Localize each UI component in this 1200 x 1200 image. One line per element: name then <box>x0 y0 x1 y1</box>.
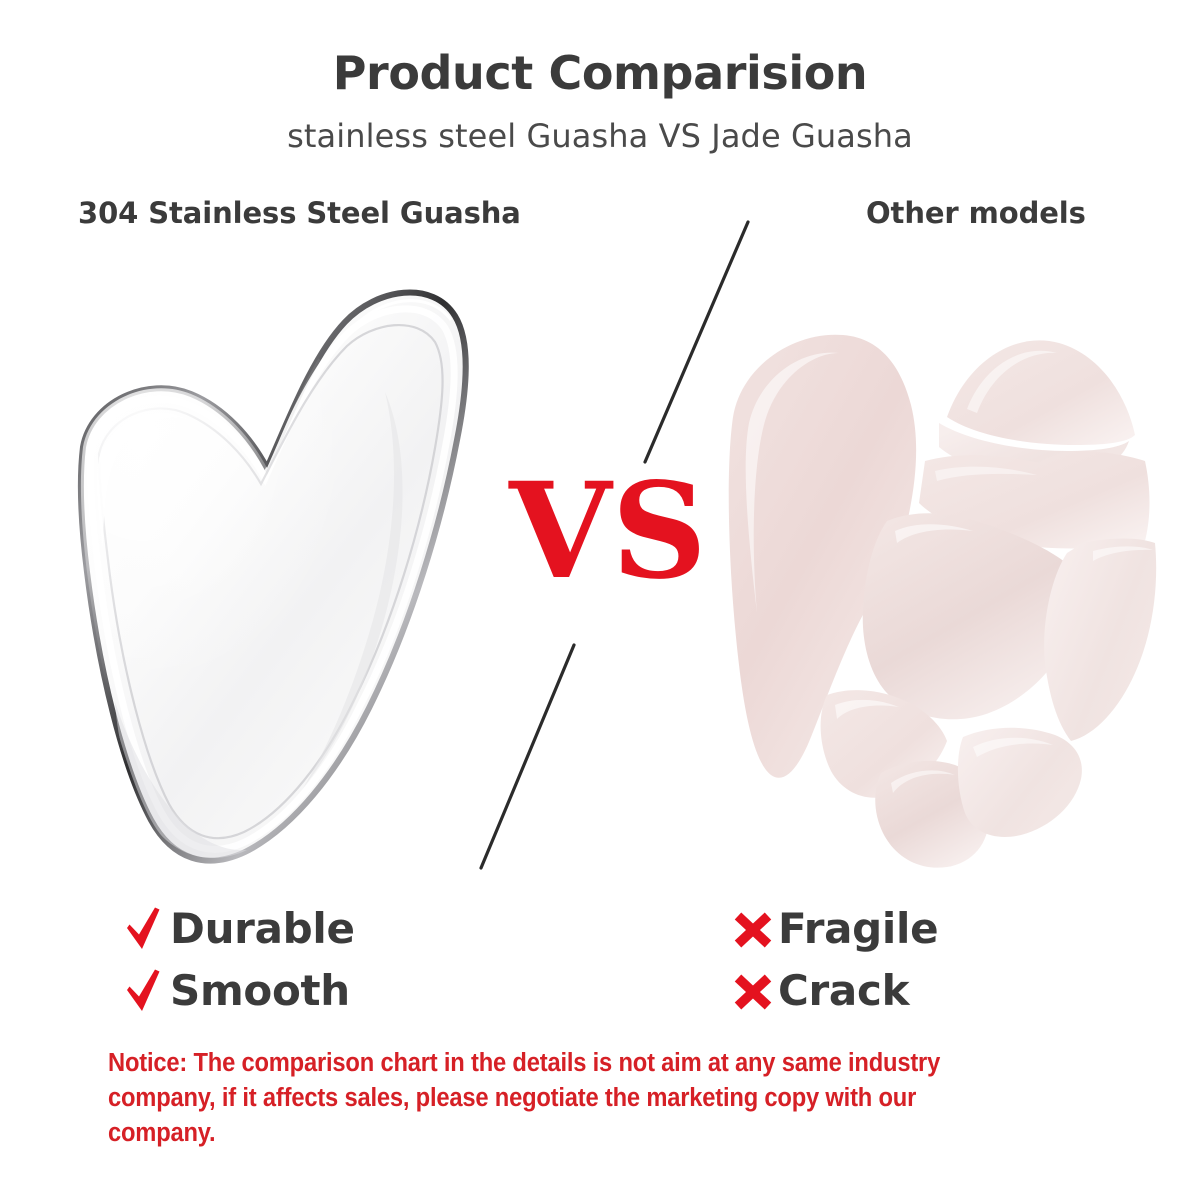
feature-item: Fragile <box>730 898 938 960</box>
steel-gua-sha-image <box>55 272 485 882</box>
jade-fragment-6 <box>1044 539 1156 742</box>
versus-text: VS <box>493 455 723 600</box>
jade-fragment-9 <box>958 728 1082 837</box>
steel-gua-sha-illustration <box>55 272 485 882</box>
right-feature-list: Fragile Crack <box>730 898 938 1022</box>
svg-text:VS: VS <box>508 455 707 600</box>
feature-item: Smooth <box>122 960 355 1022</box>
feature-item: Durable <box>122 898 355 960</box>
feature-item: Crack <box>730 960 938 1022</box>
feature-label: Durable <box>170 908 355 950</box>
feature-label: Crack <box>778 970 909 1012</box>
feature-label: Smooth <box>170 970 350 1012</box>
page-subtitle: stainless steel Guasha VS Jade Guasha <box>0 117 1200 155</box>
broken-jade-illustration <box>715 305 1165 875</box>
check-mark-icon <box>122 906 168 952</box>
feature-label: Fragile <box>778 908 938 950</box>
cross-mark-icon <box>730 968 776 1014</box>
versus-badge: VS <box>493 455 723 600</box>
page-title: Product Comparision <box>0 46 1200 100</box>
broken-jade-gua-sha-image <box>715 305 1165 875</box>
right-column-heading: Other models <box>866 196 1086 230</box>
left-feature-list: Durable Smooth <box>122 898 355 1022</box>
left-column-heading: 304 Stainless Steel Guasha <box>78 196 521 230</box>
product-comparison-graphic: Product Comparision stainless steel Guas… <box>0 0 1200 1200</box>
cross-mark-icon <box>730 906 776 952</box>
notice-text: Notice: The comparison chart in the deta… <box>108 1046 1029 1151</box>
check-mark-icon <box>122 968 168 1014</box>
